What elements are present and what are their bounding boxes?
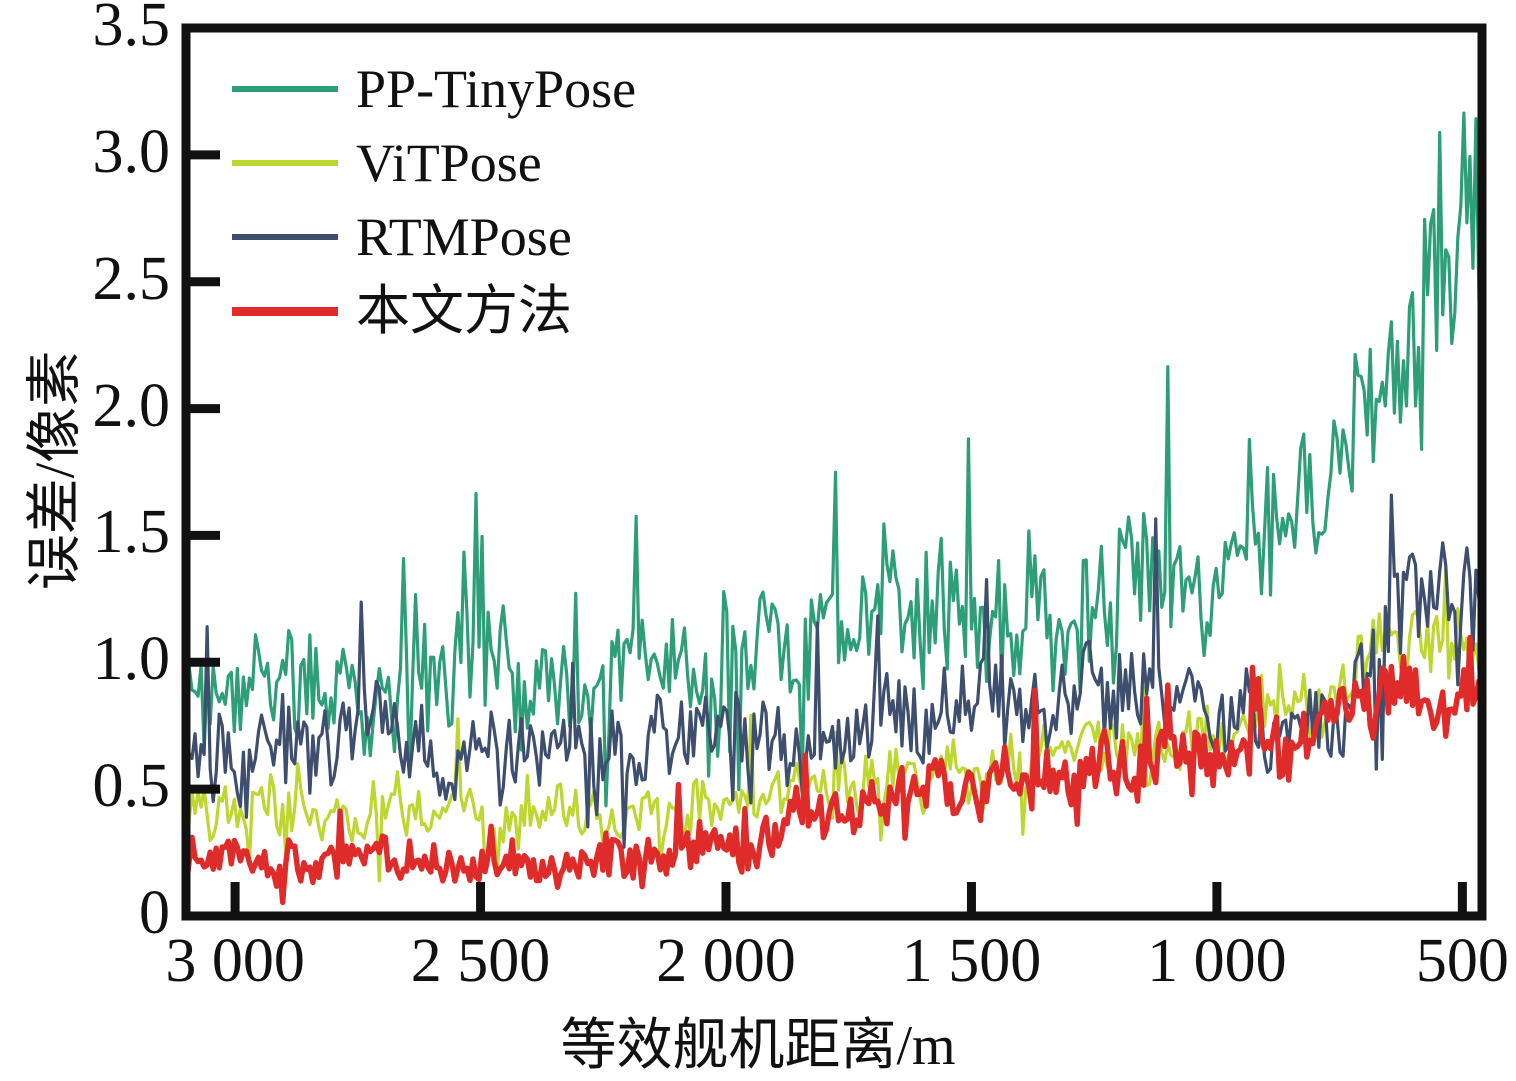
legend-item-ViTPose[interactable]: ViTPose [232, 126, 852, 200]
legend-item-PP-TinyPose[interactable]: PP-TinyPose [232, 52, 852, 126]
legend-label: PP-TinyPose [356, 62, 636, 116]
legend-label: ViTPose [356, 136, 542, 190]
x-tick-label: 2 000 [656, 930, 796, 992]
y-axis-label: 误差/像素 [10, 271, 91, 671]
legend-swatch-icon [232, 160, 338, 166]
legend: PP-TinyPoseViTPoseRTMPose本文方法 [232, 52, 852, 348]
x-tick-label: 500 [1416, 930, 1509, 992]
x-tick-label: 1 500 [902, 930, 1042, 992]
legend-label: 本文方法 [356, 284, 572, 338]
legend-swatch-icon [232, 307, 338, 316]
legend-swatch-icon [232, 86, 338, 92]
legend-label: RTMPose [356, 210, 572, 264]
legend-item-RTMPose[interactable]: RTMPose [232, 200, 852, 274]
legend-swatch-icon [232, 234, 338, 240]
legend-item-本文方法[interactable]: 本文方法 [232, 274, 852, 348]
x-axis-label: 等效舰机距离/m [0, 1000, 1516, 1081]
x-tick-label: 3 000 [165, 930, 305, 992]
x-tick-label: 1 000 [1147, 930, 1287, 992]
x-tick-label: 2 500 [411, 930, 551, 992]
chart-figure: 00.51.01.52.02.53.03.5 3 0002 5002 0001 … [0, 0, 1516, 1076]
